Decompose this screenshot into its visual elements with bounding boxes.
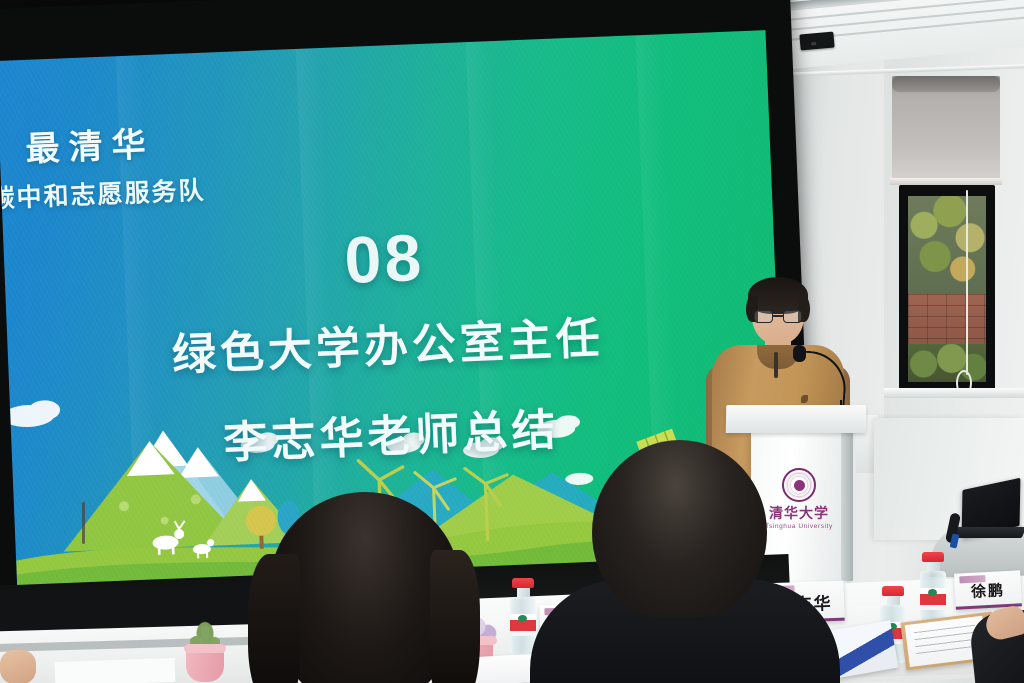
podium-logo: 清华大学 Tsinghua University [763, 468, 835, 530]
podium-org-name-cn: 清华大学 [763, 506, 835, 521]
outside-brick-wall [908, 294, 986, 350]
name-card-xupeng: 徐鹏 [954, 570, 1022, 609]
name-card-logo [959, 575, 985, 583]
bottle-neck [517, 588, 530, 597]
audience-person-center [592, 440, 767, 618]
bottle-cap [882, 586, 904, 596]
outside-shrubs [908, 344, 986, 382]
cactus-pot [186, 648, 224, 682]
paper-left [55, 658, 176, 683]
bottle-neck [887, 596, 900, 605]
blind-bottom-bar[interactable] [890, 178, 1002, 185]
presenter-zipper [774, 352, 778, 378]
podium-top [726, 405, 866, 433]
slide-section-number: 08 [253, 215, 516, 301]
audience-hand-lower-left [0, 650, 36, 683]
bottle-neck [927, 562, 940, 571]
bottle-cap [922, 552, 944, 562]
hair-parting [82, 502, 85, 544]
laptop-base[interactable] [952, 527, 1024, 538]
window-sill [884, 388, 1024, 398]
ceiling-sensor-icon [799, 32, 834, 51]
bottle-cap [512, 578, 534, 588]
microphone-capsule-icon [793, 345, 806, 362]
blind-roller-tube [892, 76, 1000, 92]
water-bottle-center[interactable] [510, 578, 536, 655]
eyeglasses-icon [754, 310, 802, 323]
podium-side-panel [841, 433, 853, 581]
podium-org-name-en: Tsinghua University [763, 523, 835, 530]
bottle-label [920, 588, 946, 610]
conference-room-photo: 力，最清华 究生碳中和志愿服务队 08 绿色大学办公室主任 李志华老师总结 清华… [0, 0, 1024, 683]
bottle-label [510, 614, 536, 636]
tsinghua-seal-icon [782, 468, 816, 502]
audience-person-left [270, 492, 460, 683]
window-glass [908, 196, 986, 382]
blind-cord[interactable] [966, 190, 968, 375]
outside-tree [908, 196, 986, 296]
